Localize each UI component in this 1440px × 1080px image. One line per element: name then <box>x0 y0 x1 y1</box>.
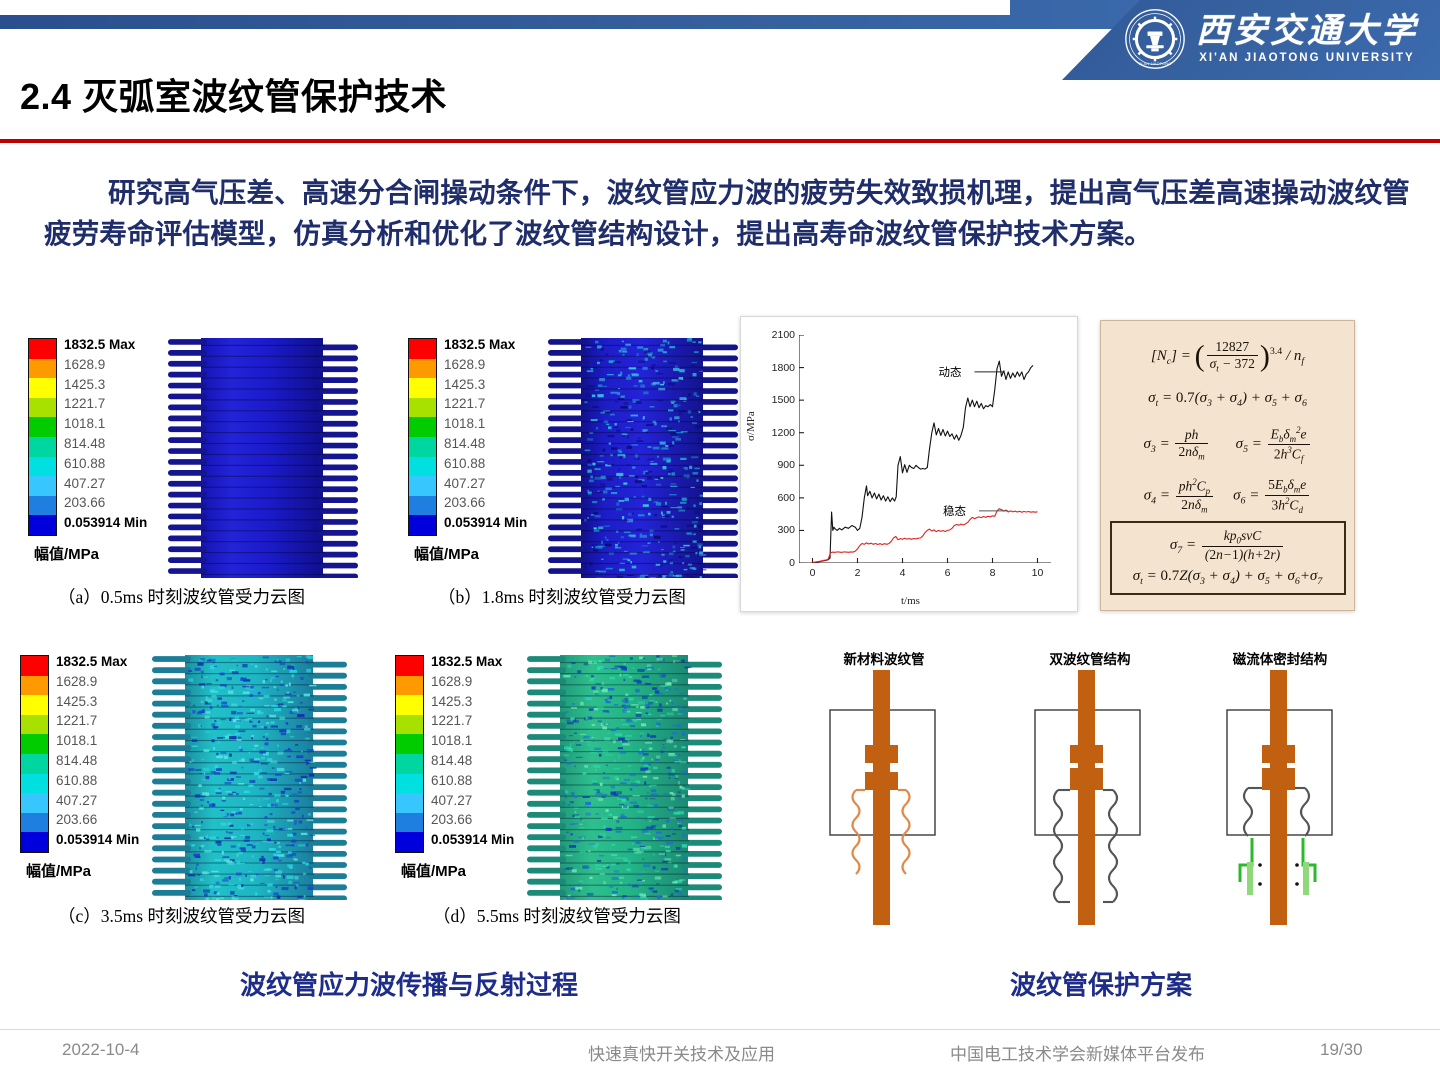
scheme-magnetic-fluid-seal <box>1227 670 1332 925</box>
legend-tick: 814.48 <box>444 437 527 457</box>
legend-colorbar <box>395 655 424 853</box>
scheme-new-material-bellows <box>830 670 935 925</box>
chart-canvas <box>799 335 1051 563</box>
page-title: 2.4 灭弧室波纹管保护技术 <box>20 68 447 120</box>
legend-tick: 814.48 <box>64 437 147 457</box>
bellows-contour-c <box>152 655 347 900</box>
footer-publisher: 中国电工技术学会新媒体平台发布 <box>950 1040 1205 1065</box>
chart-y-tick: 1500 <box>772 394 795 406</box>
legend-tick: 1018.1 <box>431 734 514 754</box>
legend-tick: 0.053914 Min <box>431 833 514 853</box>
chart-x-axis-label: t/ms <box>901 595 920 607</box>
chart-x-tick: 10 <box>1032 567 1044 579</box>
legend-tick: 407.27 <box>431 794 514 814</box>
legend-tick: 1018.1 <box>444 417 527 437</box>
legend-tick: 1425.3 <box>56 695 139 715</box>
legend-tick: 610.88 <box>431 774 514 794</box>
footer-divider <box>0 1029 1440 1030</box>
header-white-notch-left <box>0 0 1010 15</box>
slide-root: XI'AN JIAOTONG 西安交通大学 XI'AN JIAOTONG UNI… <box>0 0 1440 1080</box>
figure-d-caption: （d）5.5ms 时刻波纹管受力云图 <box>433 903 681 928</box>
legend-unit: 幅值/MPa <box>401 860 514 881</box>
series-label-dynamic: 动态 <box>939 364 962 380</box>
bellows-contour-d <box>527 655 722 900</box>
chart-y-tick: 900 <box>777 459 795 471</box>
title-divider <box>0 139 1440 143</box>
chart-x-tick: 4 <box>900 567 906 579</box>
fatigue-life-formulas: [Nc] = (12827σt − 372)3.4 / nf σt = 0.7(… <box>1100 320 1355 611</box>
logo-english-name: XI'AN JIAOTONG UNIVERSITY <box>1199 52 1414 64</box>
legend-tick-labels: 1832.5 Max 1628.9 1425.3 1221.7 1018.1 8… <box>431 655 514 853</box>
legend-b: 1832.5 Max 1628.9 1425.3 1221.7 1018.1 8… <box>408 338 527 564</box>
legend-tick-labels: 1832.5 Max 1628.9 1425.3 1221.7 1018.1 8… <box>64 338 147 536</box>
formula-sigma4: σ4 = ph2Cp2nδm <box>1144 477 1215 515</box>
legend-tick: 203.66 <box>56 813 139 833</box>
figure-c-caption: （c）3.5ms 时刻波纹管受力云图 <box>58 903 305 928</box>
legend-tick: 1832.5 Max <box>431 655 514 675</box>
legend-tick: 610.88 <box>64 457 147 477</box>
legend-tick: 610.88 <box>444 457 527 477</box>
chart-x-tick: 8 <box>990 567 996 579</box>
figure-c: 1832.5 Max 1628.9 1425.3 1221.7 1018.1 8… <box>20 655 350 895</box>
legend-colorbar <box>20 655 49 853</box>
legend-tick: 610.88 <box>56 774 139 794</box>
chart-y-tick: 1800 <box>772 362 795 374</box>
legend-tick: 407.27 <box>444 477 527 497</box>
university-logo: XI'AN JIAOTONG 西安交通大学 XI'AN JIAOTONG UNI… <box>1124 8 1418 70</box>
legend-tick: 0.053914 Min <box>64 516 147 536</box>
formula-sigma7: σ7 = kp0svC(2n−1)(h+2r) <box>1170 528 1285 563</box>
figure-b: 1832.5 Max 1628.9 1425.3 1221.7 1018.1 8… <box>408 338 738 578</box>
figure-a: 1832.5 Max 1628.9 1425.3 1221.7 1018.1 8… <box>28 338 358 578</box>
legend-tick: 407.27 <box>56 794 139 814</box>
legend-tick: 203.66 <box>431 813 514 833</box>
chart-plot-area: 03006009001200150018002100 0246810 动态 稳态 <box>799 335 1051 563</box>
protection-schemes-diagram <box>800 660 1420 965</box>
legend-tick: 203.66 <box>444 496 527 516</box>
footer-page-number: 19/30 <box>1320 1040 1363 1060</box>
caption-left: 波纹管应力波传播与反射过程 <box>240 965 578 1002</box>
legend-a: 1832.5 Max 1628.9 1425.3 1221.7 1018.1 8… <box>28 338 147 564</box>
svg-text:XI'AN JIAOTONG: XI'AN JIAOTONG <box>1139 62 1172 66</box>
legend-tick: 1832.5 Max <box>444 338 527 358</box>
series-label-steady: 稳态 <box>943 503 966 519</box>
legend-tick: 203.66 <box>64 496 147 516</box>
logo-chinese-name: 西安交通大学 <box>1196 14 1418 50</box>
legend-unit: 幅值/MPa <box>414 543 527 564</box>
legend-tick: 1425.3 <box>64 378 147 398</box>
caption-right: 波纹管保护方案 <box>1010 965 1192 1002</box>
legend-tick: 814.48 <box>56 754 139 774</box>
chart-x-tick: 2 <box>855 567 861 579</box>
legend-tick: 1221.7 <box>64 397 147 417</box>
legend-colorbar <box>28 338 57 536</box>
legend-tick: 0.053914 Min <box>444 516 527 536</box>
legend-tick: 1628.9 <box>56 675 139 695</box>
legend-c: 1832.5 Max 1628.9 1425.3 1221.7 1018.1 8… <box>20 655 139 881</box>
legend-tick: 1628.9 <box>444 358 527 378</box>
formula-Nc: [Nc] = (12827σt − 372)3.4 / nf <box>1151 339 1304 374</box>
university-seal-icon: XI'AN JIAOTONG <box>1124 8 1186 70</box>
legend-tick-labels: 1832.5 Max 1628.9 1425.3 1221.7 1018.1 8… <box>444 338 527 536</box>
legend-tick: 1221.7 <box>431 714 514 734</box>
formula-sigma6: σ6 = 5Ebδme3h2Cd <box>1233 477 1311 515</box>
chart-y-tick: 1200 <box>772 427 795 439</box>
figure-a-caption: （a）0.5ms 时刻波纹管受力云图 <box>58 584 305 609</box>
formula-highlight-box: σ7 = kp0svC(2n−1)(h+2r) σt = 0.7Z(σ3 + σ… <box>1110 521 1346 595</box>
legend-colorbar <box>408 338 437 536</box>
legend-unit: 幅值/MPa <box>26 860 139 881</box>
legend-tick: 1628.9 <box>64 358 147 378</box>
legend-tick: 1221.7 <box>444 397 527 417</box>
footer-date: 2022-10-4 <box>62 1040 140 1060</box>
legend-tick: 814.48 <box>431 754 514 774</box>
footer-center-text: 快速真快开关技术及应用 <box>588 1040 775 1065</box>
figure-d: 1832.5 Max 1628.9 1425.3 1221.7 1018.1 8… <box>395 655 725 895</box>
bellows-contour-b <box>548 338 738 578</box>
chart-x-tick: 0 <box>810 567 816 579</box>
stress-time-chart: σ/MPa t/ms 03006009001200150018002100 02… <box>740 316 1078 612</box>
body-paragraph: 研究高气压差、高速分合闸操动条件下，波纹管应力波的疲劳失效致损机理，提出高气压差… <box>44 172 1414 254</box>
formula-sigma-t: σt = 0.7(σ3 + σ4) + σ5 + σ6 <box>1148 390 1307 409</box>
chart-y-axis-label: σ/MPa <box>745 411 757 441</box>
formula-sigma-t-full: σt = 0.7Z(σ3 + σ4) + σ5 + σ6+σ7 <box>1133 568 1323 587</box>
formula-sigma3: σ3 = ph2nδm <box>1143 427 1209 462</box>
legend-tick: 1832.5 Max <box>64 338 147 358</box>
legend-tick: 1832.5 Max <box>56 655 139 675</box>
legend-tick: 1425.3 <box>444 378 527 398</box>
chart-y-tick: 300 <box>777 524 795 536</box>
legend-tick: 1628.9 <box>431 675 514 695</box>
legend-tick: 1221.7 <box>56 714 139 734</box>
legend-d: 1832.5 Max 1628.9 1425.3 1221.7 1018.1 8… <box>395 655 514 881</box>
chart-x-tick: 6 <box>945 567 951 579</box>
figure-b-caption: （b）1.8ms 时刻波纹管受力云图 <box>438 584 686 609</box>
chart-y-tick: 2100 <box>772 329 795 341</box>
formula-sigma5: σ5 = Ebδm2e2h3Cf <box>1236 425 1312 464</box>
scheme-double-bellows <box>1035 670 1140 925</box>
legend-tick-labels: 1832.5 Max 1628.9 1425.3 1221.7 1018.1 8… <box>56 655 139 853</box>
legend-unit: 幅值/MPa <box>34 543 147 564</box>
legend-tick: 407.27 <box>64 477 147 497</box>
legend-tick: 0.053914 Min <box>56 833 139 853</box>
chart-y-tick: 0 <box>789 557 795 569</box>
legend-tick: 1018.1 <box>56 734 139 754</box>
chart-y-tick: 600 <box>777 492 795 504</box>
legend-tick: 1425.3 <box>431 695 514 715</box>
bellows-contour-a <box>168 338 358 578</box>
legend-tick: 1018.1 <box>64 417 147 437</box>
